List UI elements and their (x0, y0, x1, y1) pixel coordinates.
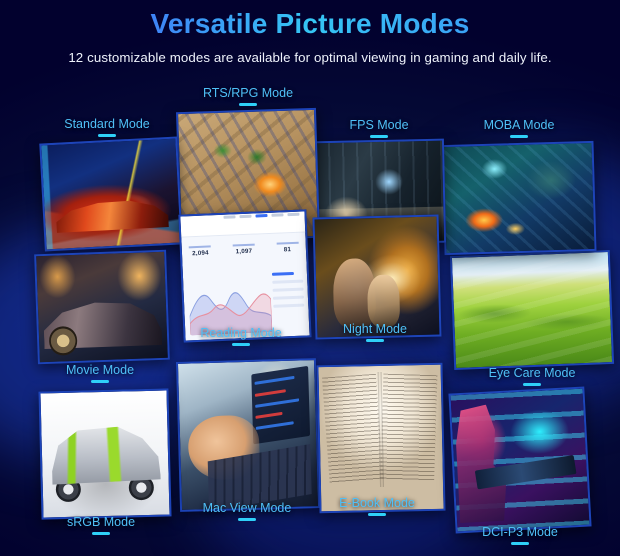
mode-card-ebook[interactable] (316, 363, 445, 514)
mode-label-eye-care: Eye Care Mode (452, 366, 612, 386)
mac-view-mode-artwork (178, 360, 318, 510)
standard-mode-artwork (41, 139, 180, 250)
label-underline (366, 339, 384, 342)
panel-row (272, 279, 303, 283)
eye-care-mode-artwork (452, 252, 612, 368)
mode-label-text: Movie Mode (66, 363, 134, 377)
screen-row (256, 412, 282, 419)
mode-label-movie: Movie Mode (30, 363, 170, 383)
panel-row (273, 295, 304, 299)
mode-label-moba: MOBA Mode (443, 118, 595, 138)
stat-value: 2,094 (189, 249, 211, 257)
dashboard-stats: 2,094 1,097 81 (189, 241, 298, 257)
mode-label-srgb: sRGB Mode (36, 515, 166, 535)
laptop-screen (252, 366, 311, 445)
page-subtitle: 12 customizable modes are available for … (0, 50, 620, 65)
stat-card: 2,094 (189, 245, 211, 257)
stat-icon-bar (276, 241, 298, 244)
mode-label-rts-rpg: RTS/RPG Mode (178, 86, 318, 106)
mode-card-mac-view[interactable] (176, 358, 320, 512)
stat-icon-bar (233, 243, 255, 246)
dashboard-side-panel (272, 271, 305, 332)
mode-card-standard[interactable] (39, 136, 182, 251)
mode-label-text: sRGB Mode (67, 515, 135, 529)
nav-item-active[interactable] (255, 214, 267, 217)
mode-label-reading: Reading Mode (176, 326, 306, 346)
panel-row (273, 303, 304, 307)
mode-label-fps: FPS Mode (313, 118, 445, 138)
mode-card-srgb[interactable] (38, 388, 171, 519)
mode-label-text: Standard Mode (64, 117, 149, 131)
car-wheel-rear (128, 475, 154, 501)
stat-icon-bar (189, 245, 211, 248)
mode-label-standard: Standard Mode (37, 117, 177, 137)
panel-title-bar (272, 271, 294, 275)
label-underline (523, 383, 541, 386)
mode-card-moba[interactable] (441, 141, 596, 255)
mode-card-movie[interactable] (34, 250, 170, 365)
moba-mode-artwork (444, 143, 595, 253)
screen-row (257, 421, 295, 430)
nav-item[interactable] (287, 213, 299, 216)
screen-row (256, 398, 299, 408)
mode-label-text: Eye Care Mode (489, 366, 576, 380)
mode-label-text: MOBA Mode (484, 118, 555, 132)
mode-label-text: E-Book Mode (339, 496, 415, 510)
screen-row (256, 389, 287, 397)
stat-value: 1,097 (233, 247, 255, 255)
mode-label-text: RTS/RPG Mode (203, 86, 293, 100)
stat-card: 1,097 (233, 243, 255, 255)
mode-label-text: FPS Mode (349, 118, 408, 132)
car-wheel-front (55, 477, 81, 503)
mode-label-mac-view: Mac View Mode (172, 501, 322, 521)
dci-p3-mode-artwork (451, 389, 590, 532)
picture-modes-banner: Versatile Picture Modes 12 customizable … (0, 0, 620, 556)
mode-label-text: Night Mode (343, 322, 407, 336)
page-title: Versatile Picture Modes (0, 8, 620, 40)
mode-card-reading[interactable]: 2,094 1,097 81 (178, 209, 311, 342)
srgb-mode-artwork (41, 390, 170, 517)
ebook-mode-artwork (319, 365, 444, 512)
dashboard-nav[interactable] (224, 213, 300, 219)
night-mode-figure-child (367, 274, 400, 327)
dashboard-topbar (180, 211, 305, 237)
label-underline (510, 135, 528, 138)
label-underline (368, 513, 386, 516)
reading-mode-artwork: 2,094 1,097 81 (180, 211, 309, 340)
banner-header: Versatile Picture Modes 12 customizable … (0, 0, 620, 65)
mode-card-night[interactable] (313, 214, 442, 339)
label-underline (370, 135, 388, 138)
mode-label-dci-p3: DCI-P3 Mode (450, 525, 590, 545)
mode-card-dci-p3[interactable] (448, 387, 591, 534)
mode-label-text: Reading Mode (200, 326, 281, 340)
panel-row (273, 287, 304, 291)
stat-value: 81 (276, 245, 298, 253)
label-underline (91, 380, 109, 383)
label-underline (232, 343, 250, 346)
mode-label-night: Night Mode (310, 322, 440, 342)
stat-card: 81 (276, 241, 298, 253)
label-underline (92, 532, 110, 535)
label-underline (98, 134, 116, 137)
cyberpunk-figure (454, 403, 515, 523)
nav-item[interactable] (239, 215, 251, 218)
book-page-right (380, 373, 437, 481)
screen-row (255, 376, 295, 385)
book-page-left (322, 373, 383, 483)
mode-label-ebook: E-Book Mode (312, 496, 442, 516)
mode-label-text: Mac View Mode (203, 501, 292, 515)
nav-item[interactable] (271, 213, 283, 216)
label-underline (239, 103, 257, 106)
label-underline (511, 542, 529, 545)
mode-label-text: DCI-P3 Mode (482, 525, 558, 539)
nav-item[interactable] (224, 215, 236, 218)
label-underline (238, 518, 256, 521)
mode-card-eye-care[interactable] (450, 250, 614, 370)
